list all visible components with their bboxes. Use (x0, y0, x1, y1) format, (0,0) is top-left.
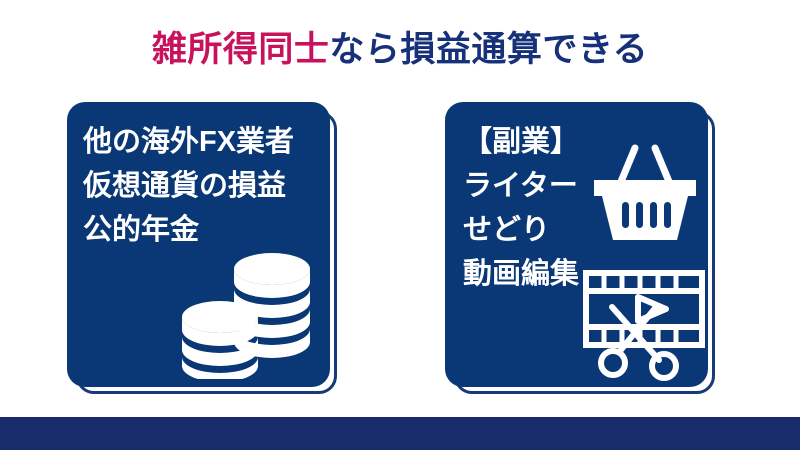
card-line: ライター (463, 164, 579, 208)
slide-canvas: 雑所得同士なら損益通算できる 他の海外FX業者 仮想通貨の損益 公的年金 (0, 0, 800, 450)
page-title-base: なら損益通算できる (329, 30, 648, 69)
card-body: 他の海外FX業者 仮想通貨の損益 公的年金 (67, 102, 330, 387)
page-title-accent: 雑所得同士 (152, 30, 330, 69)
card-text-block: 他の海外FX業者 仮想通貨の損益 公的年金 (83, 120, 294, 252)
shopping-basket-icon (586, 132, 704, 250)
card-line: 動画編集 (463, 252, 579, 296)
card-line: 他の海外FX業者 (83, 120, 294, 164)
card-line: せどり (463, 208, 579, 252)
bottom-accent-bar (0, 417, 800, 450)
card-text-block: 【副業】 ライター せどり 動画編集 (463, 120, 579, 296)
card-body: 【副業】 ライター せどり 動画編集 (445, 102, 708, 387)
card-line: 仮想通貨の損益 (83, 164, 294, 208)
card-line: 【副業】 (463, 120, 579, 164)
page-title: 雑所得同士なら損益通算できる (0, 28, 800, 72)
card-other-misc-income[interactable]: 他の海外FX業者 仮想通貨の損益 公的年金 (67, 102, 330, 387)
card-line: 公的年金 (83, 208, 294, 252)
video-editing-icon (580, 259, 708, 387)
card-side-business-income[interactable]: 【副業】 ライター せどり 動画編集 (445, 102, 708, 387)
